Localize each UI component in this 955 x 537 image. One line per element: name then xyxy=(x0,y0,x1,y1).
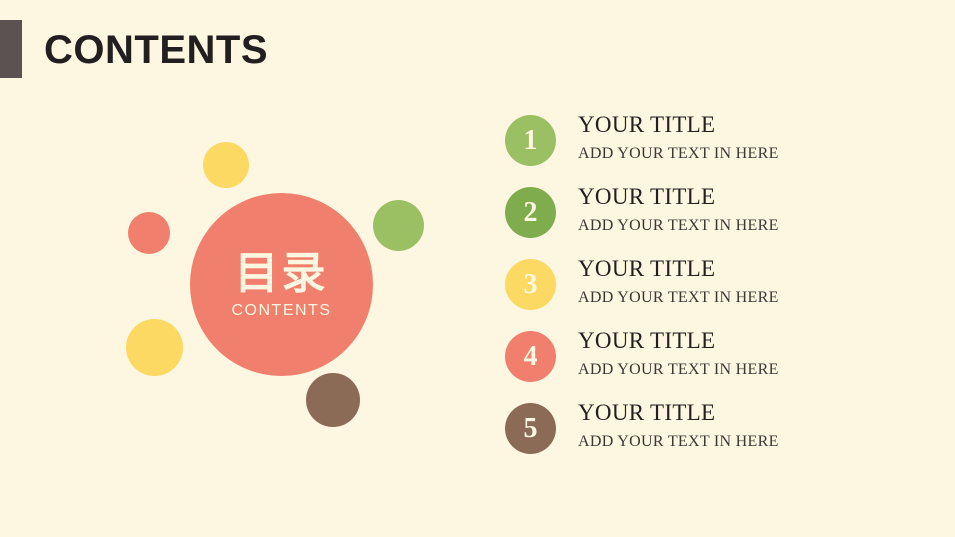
list-item-title: YOUR TITLE xyxy=(578,398,779,428)
list-item-number-badge: 4 xyxy=(505,331,556,382)
list-item-title: YOUR TITLE xyxy=(578,254,779,284)
decor-circle-brown-bottom xyxy=(306,373,360,427)
decor-circle-yellow-top xyxy=(203,142,249,188)
list-item-subtitle: ADD YOUR TEXT IN HERE xyxy=(578,142,779,166)
page-title: CONTENTS xyxy=(44,25,268,75)
list-item-text: YOUR TITLE ADD YOUR TEXT IN HERE xyxy=(578,398,779,454)
list-item[interactable]: 2 YOUR TITLE ADD YOUR TEXT IN HERE xyxy=(505,182,925,254)
list-item-number-badge: 5 xyxy=(505,403,556,454)
list-item-subtitle: ADD YOUR TEXT IN HERE xyxy=(578,214,779,238)
list-item-text: YOUR TITLE ADD YOUR TEXT IN HERE xyxy=(578,182,779,238)
hero-circle: 目录 CONTENTS xyxy=(190,193,373,376)
list-item-number-badge: 1 xyxy=(505,115,556,166)
list-item[interactable]: 1 YOUR TITLE ADD YOUR TEXT IN HERE xyxy=(505,110,925,182)
hero-title-en: CONTENTS xyxy=(232,302,332,320)
list-item-number-badge: 3 xyxy=(505,259,556,310)
title-accent-bar xyxy=(0,20,22,78)
list-item-text: YOUR TITLE ADD YOUR TEXT IN HERE xyxy=(578,110,779,166)
hero-title-cn: 目录 xyxy=(235,249,329,299)
list-item[interactable]: 3 YOUR TITLE ADD YOUR TEXT IN HERE xyxy=(505,254,925,326)
list-item-text: YOUR TITLE ADD YOUR TEXT IN HERE xyxy=(578,326,779,382)
list-item-subtitle: ADD YOUR TEXT IN HERE xyxy=(578,286,779,310)
list-item-title: YOUR TITLE xyxy=(578,110,779,140)
list-item-title: YOUR TITLE xyxy=(578,326,779,356)
decor-circle-yellow-bottom xyxy=(126,319,183,376)
decor-circle-red-left xyxy=(128,212,170,254)
list-item-subtitle: ADD YOUR TEXT IN HERE xyxy=(578,430,779,454)
list-item[interactable]: 4 YOUR TITLE ADD YOUR TEXT IN HERE xyxy=(505,326,925,398)
list-item-text: YOUR TITLE ADD YOUR TEXT IN HERE xyxy=(578,254,779,310)
list-item[interactable]: 5 YOUR TITLE ADD YOUR TEXT IN HERE xyxy=(505,398,925,470)
contents-list: 1 YOUR TITLE ADD YOUR TEXT IN HERE 2 YOU… xyxy=(505,110,925,470)
list-item-title: YOUR TITLE xyxy=(578,182,779,212)
list-item-subtitle: ADD YOUR TEXT IN HERE xyxy=(578,358,779,382)
decor-circle-green-right xyxy=(373,200,424,251)
list-item-number-badge: 2 xyxy=(505,187,556,238)
decorative-circle-cluster: 目录 CONTENTS xyxy=(110,120,450,430)
